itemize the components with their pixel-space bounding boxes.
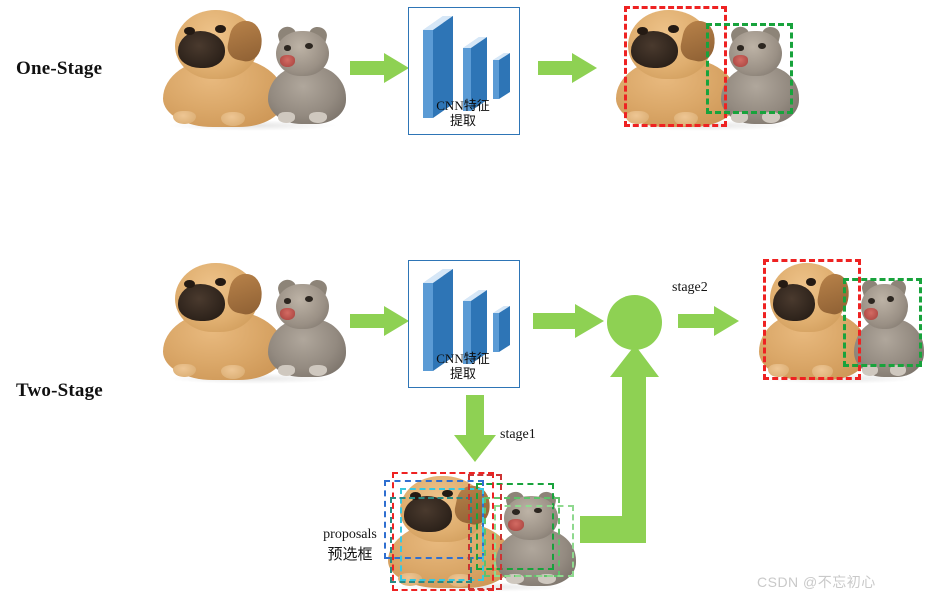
watermark-text: CSDN @不忘初心 bbox=[757, 572, 876, 592]
arrow-input-to-cnn-two-stage bbox=[350, 305, 410, 337]
cat-paw-right bbox=[309, 112, 327, 123]
arrow-cnn-to-output-one-stage bbox=[538, 52, 598, 84]
dog-muzzle bbox=[178, 31, 225, 68]
row-label-two-stage: Two-Stage bbox=[16, 380, 103, 402]
cnn-caption-line2: 提取 bbox=[409, 114, 517, 128]
dog-paw-right bbox=[221, 365, 244, 378]
cat-paw-left bbox=[862, 365, 878, 376]
arrow-proposals-to-fusion-elbow bbox=[580, 345, 690, 560]
dog-paw-right bbox=[221, 112, 244, 125]
stage1-label: stage1 bbox=[500, 427, 536, 443]
dog-eye-right bbox=[215, 278, 226, 286]
cnn-caption-line1: CNN特征 bbox=[436, 351, 489, 366]
figure-canvas: One-Stage bbox=[0, 0, 933, 603]
proposals-photo bbox=[380, 468, 580, 596]
one-stage-output-photo bbox=[608, 2, 803, 135]
detection-box-cat bbox=[706, 23, 794, 113]
cat-paw-right bbox=[309, 365, 327, 376]
row-label-one-stage: One-Stage bbox=[16, 58, 102, 80]
cnn-caption-line2: 提取 bbox=[409, 367, 517, 381]
two-stage-output-photo bbox=[752, 255, 927, 388]
cat-head bbox=[276, 31, 329, 76]
photo-scene bbox=[155, 255, 350, 388]
arrow-cnn-to-proposals bbox=[452, 395, 498, 463]
proposals-label-cn: 预选框 bbox=[300, 543, 400, 564]
cnn-module-two-stage: CNN特征 提取 bbox=[408, 260, 520, 388]
photo-scene bbox=[155, 2, 350, 135]
cat-paw-right bbox=[762, 112, 780, 123]
proposal-box bbox=[390, 497, 472, 583]
cnn-module-one-stage: CNN特征 提取 bbox=[408, 7, 520, 135]
arrow-input-to-cnn-one-stage bbox=[350, 52, 410, 84]
cat-paw-right bbox=[890, 365, 906, 376]
stage2-label: stage2 bbox=[672, 280, 708, 296]
cat-head bbox=[276, 284, 329, 329]
cat-eye-left bbox=[284, 45, 292, 51]
proposal-box bbox=[468, 474, 502, 589]
cnn-caption-two-stage: CNN特征 提取 bbox=[409, 352, 517, 381]
arrow-cnn-to-fusion-node bbox=[533, 303, 605, 339]
fusion-node-circle bbox=[607, 295, 662, 350]
cat-eye-left bbox=[284, 298, 292, 304]
proposals-label-en: proposals bbox=[323, 527, 377, 542]
dog-eye-right bbox=[215, 25, 226, 33]
cnn-caption-line1: CNN特征 bbox=[436, 98, 489, 113]
arrow-fusion-to-output bbox=[678, 305, 740, 337]
proposal-box bbox=[494, 505, 574, 577]
dog-muzzle bbox=[178, 284, 225, 321]
cnn-caption-one-stage: CNN特征 提取 bbox=[409, 99, 517, 128]
two-stage-input-photo bbox=[155, 255, 350, 388]
one-stage-input-photo bbox=[155, 2, 350, 135]
detection-box-cat bbox=[843, 278, 922, 367]
proposals-caption: proposals 预选框 bbox=[300, 527, 400, 564]
